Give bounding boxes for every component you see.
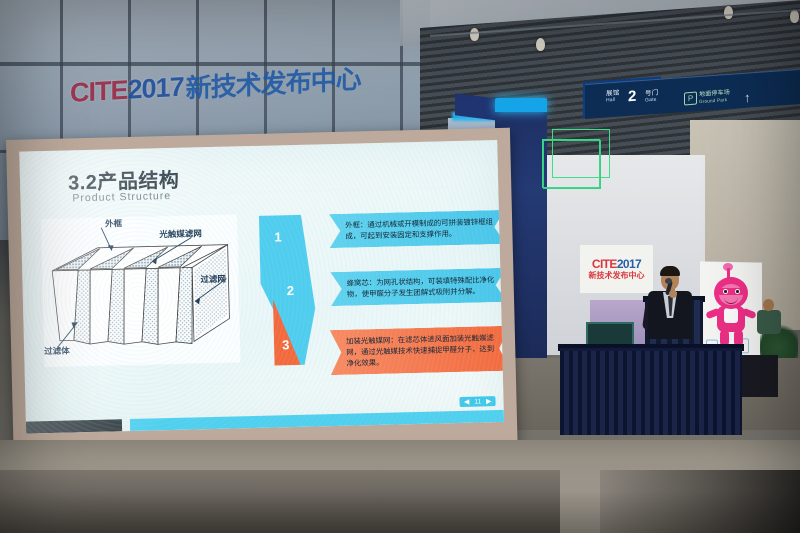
pendant-light [724,6,733,19]
table-skirt [560,348,742,435]
sign-gate-label: 号门 Gate [645,90,658,104]
column-top-light [495,98,547,112]
slide-canvas: 3.2产品结构 Product Structure [19,140,504,434]
parking-icon: P [684,92,697,106]
screenshot-root: CITE2017 新技术发布中心 展馆 Hall 2 号门 Gate P 地面停… [0,0,800,533]
sign-hall-en: Hall [606,97,619,104]
mascot-pupil-right [736,290,739,293]
seated-person-head [763,299,774,311]
pendant-light [536,38,545,51]
hall-banner-brand: CITE2017 [70,71,184,108]
filter-diagram-svg [41,214,241,367]
mascot-mask [717,288,745,295]
speaker-hand [669,290,677,298]
step-number-3: 3 [282,337,290,352]
green-wireframe-cube-front [552,129,610,178]
microphone-head [665,278,672,284]
sign-hall-label: 展馆 Hall [606,90,619,104]
slide-footer-dark-bar [26,419,122,433]
floor-shadow [0,470,560,533]
product-structure-diagram: 外框 光触媒滤网 过滤网 过滤体 [41,214,241,367]
slide-navigation[interactable]: ◀ 11 ▶ [460,396,496,407]
step-number-column: 1 2 3 [257,212,325,369]
stage-riser [742,355,778,397]
mascot-bib [724,308,738,323]
step-callout-1: 外框：通过机械或开模制成的可拼装镀锌框组成，可起到安装固定和支撑作用。 [329,210,504,248]
podium-banner-subtitle: 新技术发布中心 [589,271,645,281]
podium-banner-brand: CITE2017 [592,258,641,270]
sign-gate-en: Gate [645,97,658,104]
slide-page-number: 11 [474,398,481,405]
pendant-light [470,28,479,41]
step-callout-3: 加装光触媒网：在滤芯体进风面加装光触媒滤网，通过光触媒技术快速捕捉甲醛分子，达到… [330,326,504,375]
projection-screen: 3.2产品结构 Product Structure [6,128,518,458]
diagram-label-photocatalyst-mesh: 光触媒滤网 [159,227,202,240]
next-slide-button[interactable]: ▶ [486,397,492,405]
seated-person-body [757,310,781,334]
prev-slide-button[interactable]: ◀ [464,398,470,406]
step-callout-2: 蜂窝芯：为网孔状结构，可装填特殊配比净化物，使甲醛分子发生团解式吸附并分解。 [330,268,504,306]
diagram-label-filter-body: 过滤体 [44,345,70,358]
speaker-hair [660,266,680,276]
podium-cite-banner: CITE2017 新技术发布中心 [580,245,653,293]
pendant-light [790,10,799,23]
sign-parking-label: 地面停车场 Ground Park [699,90,730,104]
slide-subtitle: Product Structure [72,190,171,204]
arrow-up-icon: ↑ [744,90,751,105]
diagram-label-filter-net: 过滤网 [200,273,226,286]
sign-gate-number: 2 [628,88,636,106]
step-number-1: 1 [274,229,282,244]
dark-foreground-corner [600,470,800,533]
diagram-label-outer-frame: 外框 [105,217,122,229]
mascot-pupil-left [724,290,727,293]
step-number-2: 2 [287,283,295,298]
